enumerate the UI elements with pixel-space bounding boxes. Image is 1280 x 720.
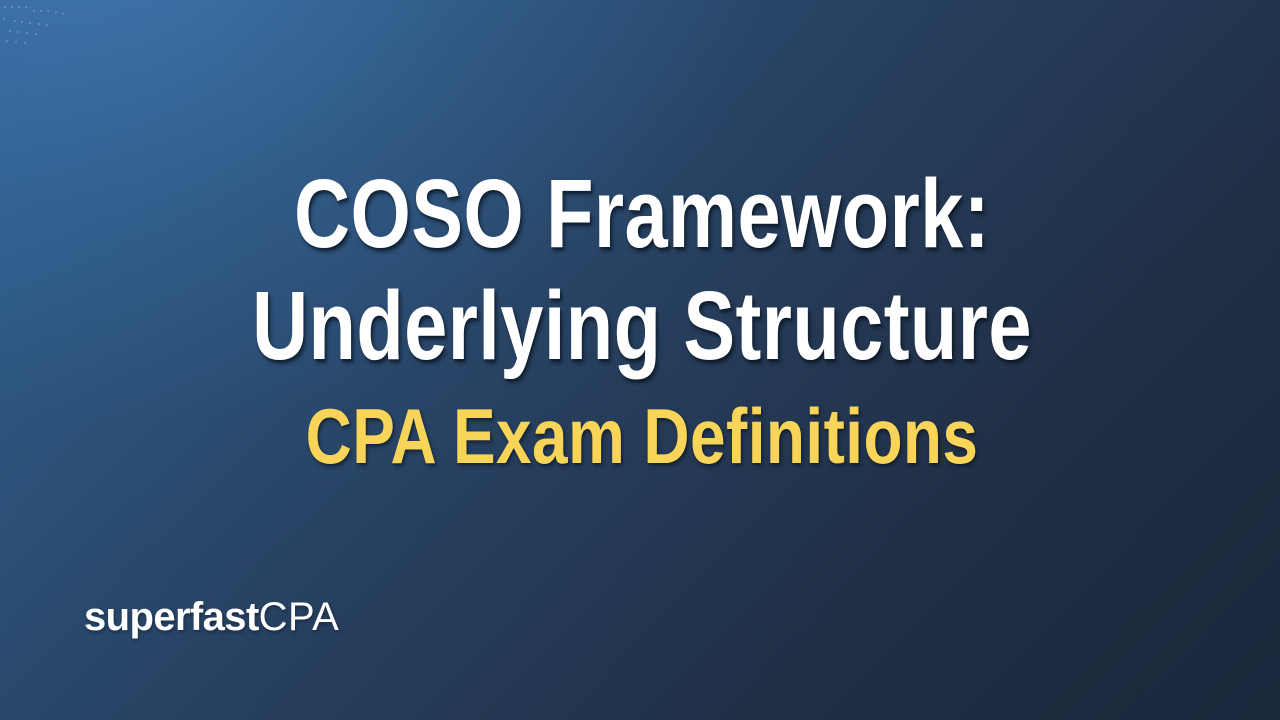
corner-speckle-decoration (0, 0, 70, 56)
logo-secondary-text: CPA (259, 595, 339, 639)
page-title-line-1: COSO Framework: (132, 158, 1153, 270)
page-title-line-2: Underlying Structure (132, 270, 1153, 382)
logo-primary-text: superfast (84, 595, 259, 639)
page-subtitle: CPA Exam Definitions (119, 388, 1165, 484)
title-slide: COSO Framework: Underlying Structure CPA… (0, 0, 1280, 720)
slide-text-block: COSO Framework: Underlying Structure CPA… (0, 158, 1280, 484)
superfastcpa-logo: superfastCPA (84, 596, 339, 638)
